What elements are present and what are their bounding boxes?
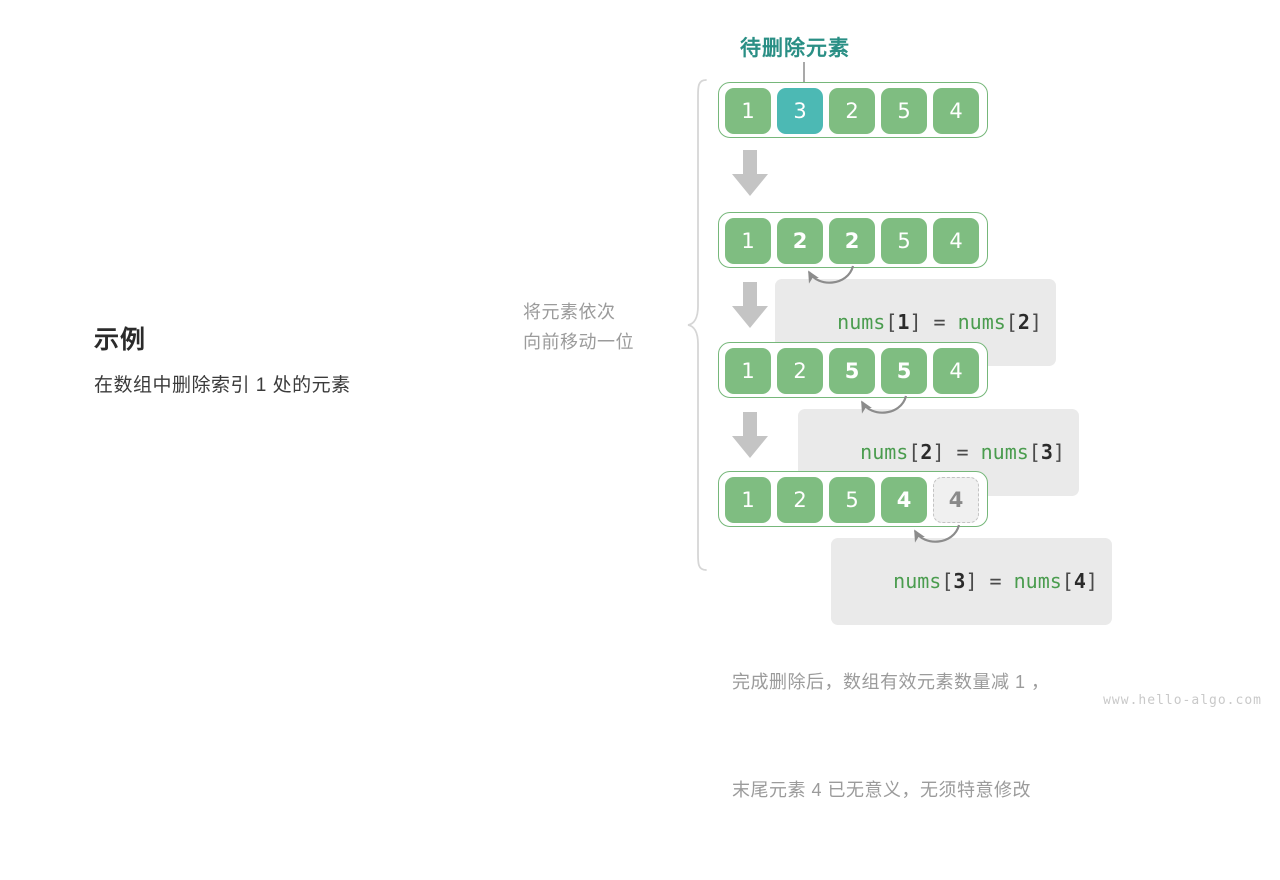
code-rhs-name: nums (958, 310, 1006, 334)
array-row-step-3: 1 2 5 4 4 (718, 471, 988, 527)
array-cell-source: 5 (881, 348, 927, 394)
array-cell: 2 (777, 477, 823, 523)
array-cell-obsolete: 4 (933, 477, 979, 523)
array-row-step-2: 1 2 5 5 4 (718, 342, 988, 398)
deletion-result-note: 完成删除后，数组有效元素数量减 1 ， 末尾元素 4 已无意义，无须特意修改 (732, 592, 1050, 880)
delete-target-callout-label: 待删除元素 (740, 32, 850, 62)
code-lhs-index: 2 (920, 440, 932, 464)
shift-note-line-2: 向前移动一位 (523, 327, 693, 357)
code-rhs-name: nums (981, 440, 1029, 464)
code-lhs-name: nums (893, 569, 941, 593)
down-arrow-icon (730, 150, 770, 198)
array-cell: 4 (933, 218, 979, 264)
array-cell-updated: 4 (881, 477, 927, 523)
code-operator: = (990, 569, 1002, 593)
code-lhs-name: nums (837, 310, 885, 334)
grouping-brace-icon (686, 78, 708, 572)
example-heading: 示例 (94, 320, 494, 356)
array-cell: 1 (725, 88, 771, 134)
example-subtext: 在数组中删除索引 1 处的元素 (94, 370, 494, 397)
array-cell: 5 (829, 477, 875, 523)
down-arrow-icon (730, 412, 770, 460)
code-lhs-index: 3 (953, 569, 965, 593)
code-rhs-index: 4 (1074, 569, 1086, 593)
code-lhs-index: 1 (897, 310, 909, 334)
array-cell-updated: 5 (829, 348, 875, 394)
array-cell: 4 (933, 348, 979, 394)
array-cell: 1 (725, 477, 771, 523)
code-operator: = (957, 440, 969, 464)
code-lhs-name: nums (860, 440, 908, 464)
code-rhs-index: 2 (1018, 310, 1030, 334)
code-rhs-name: nums (1014, 569, 1062, 593)
deletion-result-line-1: 完成删除后，数组有效元素数量减 1 ， (732, 664, 1050, 700)
deletion-result-line-2: 末尾元素 4 已无意义，无须特意修改 (732, 772, 1050, 808)
array-cell: 5 (881, 218, 927, 264)
array-cell: 5 (881, 88, 927, 134)
code-rhs-index: 3 (1041, 440, 1053, 464)
site-watermark: www.hello-algo.com (1103, 693, 1262, 708)
down-arrow-icon (730, 282, 770, 330)
array-cell: 2 (777, 348, 823, 394)
shift-elements-note: 将元素依次 向前移动一位 (523, 297, 693, 357)
array-deletion-diagram: 待删除元素 1 3 2 5 4 1 2 2 5 4 nums[1] = nums… (718, 0, 1278, 720)
code-operator: = (934, 310, 946, 334)
array-cell-updated: 2 (777, 218, 823, 264)
array-cell-delete-target: 3 (777, 88, 823, 134)
array-row-step-1: 1 2 2 5 4 (718, 212, 988, 268)
array-cell-source: 2 (829, 218, 875, 264)
shift-note-line-1: 将元素依次 (523, 297, 693, 327)
array-cell: 1 (725, 348, 771, 394)
array-row-initial: 1 3 2 5 4 (718, 82, 988, 138)
array-cell: 4 (933, 88, 979, 134)
array-cell: 2 (829, 88, 875, 134)
example-description-block: 示例 在数组中删除索引 1 处的元素 (94, 320, 494, 397)
array-cell: 1 (725, 218, 771, 264)
